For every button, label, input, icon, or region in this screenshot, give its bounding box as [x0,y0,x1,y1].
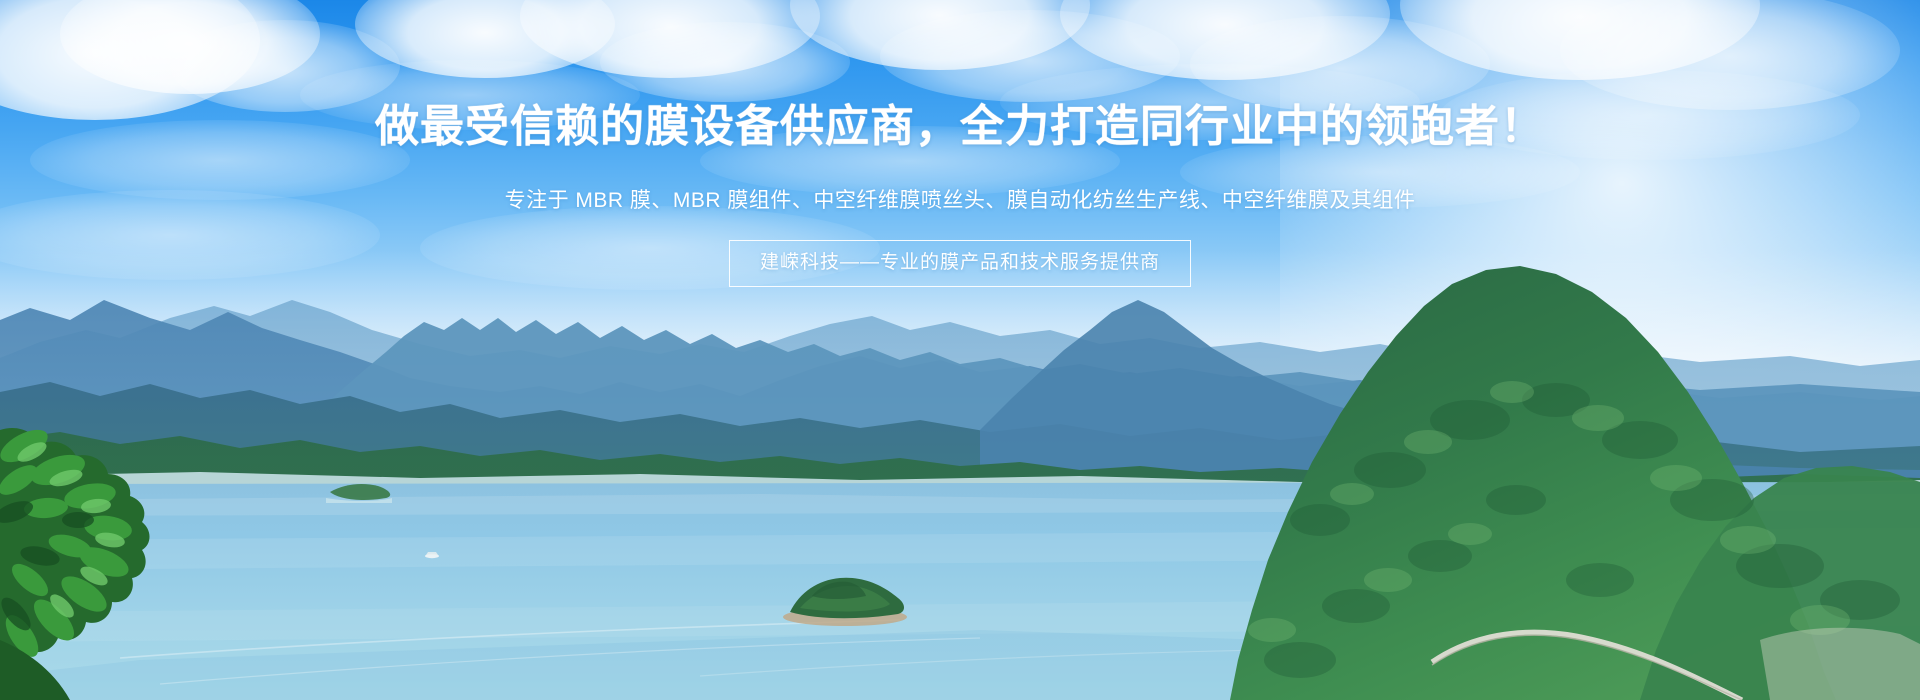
page-title: 做最受信赖的膜设备供应商，全力打造同行业中的领跑者！ [0,101,1920,153]
lake-island [326,484,392,503]
page-subtitle: 专注于 MBR 膜、MBR 膜组件、中空纤维膜喷丝头、膜自动化纺丝生产线、中空纤… [0,186,1920,216]
boat-icon [425,552,439,558]
mountain-road [1432,632,1742,700]
company-tagline: 建嵘科技——专业的膜产品和技术服务提供商 [729,240,1191,287]
lake-island [783,578,907,626]
hero-banner: 做最受信赖的膜设备供应商，全力打造同行业中的领跑者！ 专注于 MBR 膜、MBR… [0,0,1920,700]
foreground-foliage [0,423,150,700]
lake-island [1395,580,1515,628]
